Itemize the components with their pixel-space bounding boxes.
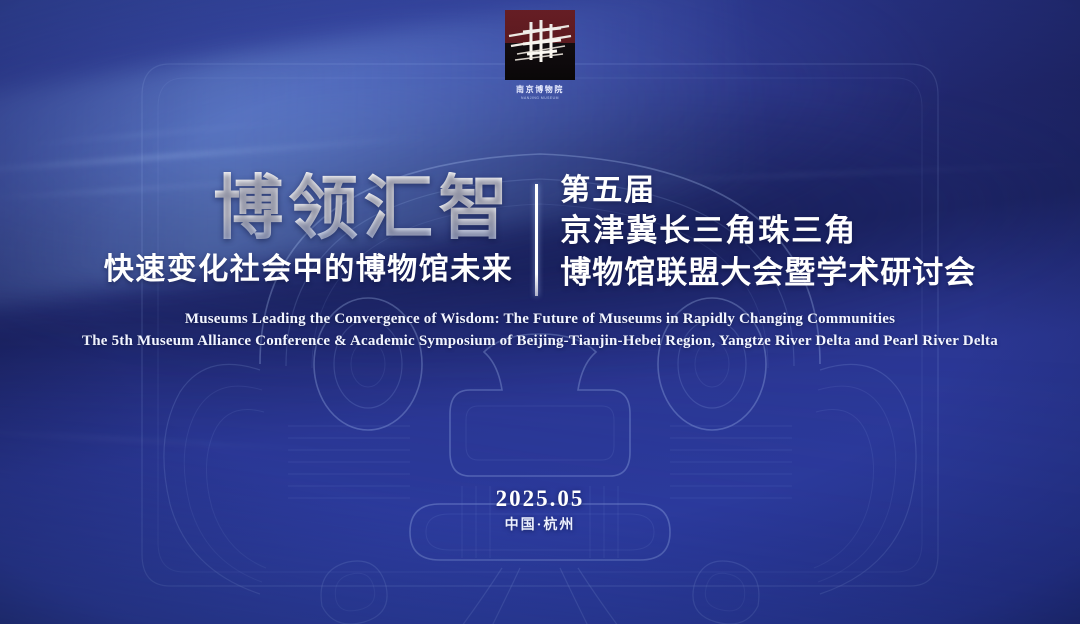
- taotie-bronze-mask-watermark: [110, 34, 970, 624]
- event-date: 2025.05: [0, 486, 1080, 512]
- regions-label: 京津冀长三角珠三角: [560, 210, 976, 252]
- museum-logo-mark: [505, 10, 575, 80]
- headline-right: 第五届 京津冀长三角珠三角 博物馆联盟大会暨学术研讨会: [538, 172, 976, 294]
- event-datebox: 2025.05 中国·杭州: [0, 486, 1080, 534]
- headline-left: 博领汇智 快速变化社会中的博物馆未来: [104, 172, 536, 290]
- edition-label: 第五届: [560, 172, 976, 210]
- museum-logo: 南京博物院 NANJING MUSEUM: [497, 10, 583, 101]
- event-place: 中国·杭州: [0, 517, 1080, 534]
- museum-logo-subtitle: NANJING MUSEUM: [497, 96, 583, 102]
- poster-main-title: 博领汇智: [104, 172, 514, 248]
- headline-block: 博领汇智 快速变化社会中的博物馆未来 第五届 京津冀长三角珠三角 博物馆联盟大会…: [0, 172, 1080, 296]
- conference-poster: 南京博物院 NANJING MUSEUM 博领汇智 快速变化社会中的博物馆未来 …: [0, 0, 1080, 624]
- conference-name-label: 博物馆联盟大会暨学术研讨会: [560, 252, 976, 294]
- english-subtitle-line-2: The 5th Museum Alliance Conference & Aca…: [0, 333, 1080, 350]
- english-subtitle-line-1: Museums Leading the Convergence of Wisdo…: [0, 311, 1080, 328]
- poster-sub-title: 快速变化社会中的博物馆未来: [104, 250, 514, 290]
- museum-logo-name: 南京博物院: [497, 85, 583, 94]
